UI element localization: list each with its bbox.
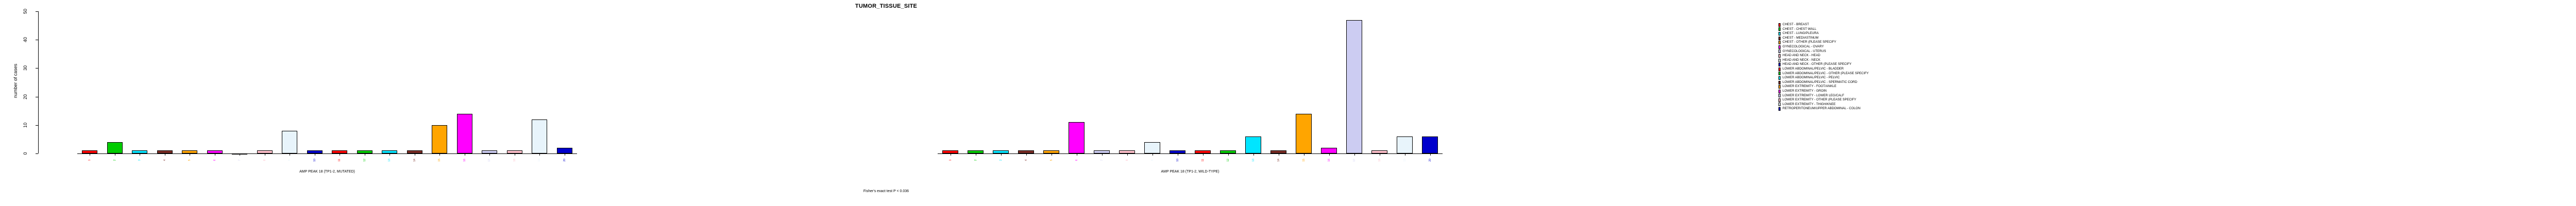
bar (942, 150, 958, 153)
bar (1346, 20, 1362, 153)
legend-item-label: RETROPERITONEUM/UPPER ABDOMINAL - COLON (1783, 107, 1860, 111)
legend-item[interactable]: LOWER EXTREMITY - LOWER LEG/CALF (1778, 94, 2576, 98)
legend-item[interactable]: LOWER EXTREMITY - THIGH/KNEE (1778, 102, 2576, 107)
bar (357, 150, 372, 153)
x-axis-tick-label: 20 (563, 153, 566, 167)
legend-item[interactable]: LOWER EXTREMITY - OTHER (PLEASE SPECIFY (1778, 98, 2576, 102)
y-axis-tick-label: 20 (23, 90, 28, 104)
bar (507, 150, 522, 153)
x-axis-tick-label: 2 (113, 153, 116, 167)
bar (482, 150, 497, 153)
bar (1220, 150, 1235, 153)
x-axis-tick-label: 11 (1201, 153, 1205, 167)
legend-color-swatch-icon (1778, 76, 1781, 80)
x-axis-tick-label: 2 (974, 153, 977, 167)
statistical-test-caption: Fisher's exact test P < 0.036 (0, 190, 1772, 193)
bar (82, 150, 97, 153)
y-axis-tick (36, 97, 38, 97)
legend-color-swatch-icon (1778, 32, 1781, 36)
bar (257, 150, 273, 153)
legend-item-label: LOWER EXTREMITY - THIGH/KNEE (1783, 102, 1836, 107)
legend-item[interactable]: HEAD AND NECK - NECK (1778, 58, 2576, 63)
bar (1371, 150, 1387, 153)
legend-color-swatch-icon (1778, 49, 1781, 53)
bar (1170, 150, 1185, 153)
legend-item[interactable]: CHEST - CHEST WALL (1778, 27, 2576, 32)
legend-color-swatch-icon (1778, 98, 1781, 102)
x-axis-tick-label: 6 (213, 153, 216, 167)
legend-item[interactable]: LOWER ABDOMINAL/PELVIC - PELVIC (1778, 76, 2576, 80)
y-axis-tick (36, 153, 38, 154)
bar (1144, 142, 1160, 153)
legend: CHEST - BREASTCHEST - CHEST WALLCHEST - … (1778, 23, 2576, 111)
bar (282, 131, 297, 153)
legend-item[interactable]: RETROPERITONEUM/UPPER ABDOMINAL - COLON (1778, 107, 2576, 111)
x-axis-tick-label: 18 (513, 153, 516, 167)
y-axis-tick (36, 68, 38, 68)
y-axis-tick (36, 11, 38, 12)
bar (307, 150, 323, 153)
x-axis-tick-label: 14 (1277, 153, 1280, 167)
legend-color-swatch-icon (1778, 107, 1781, 111)
bar (157, 150, 173, 153)
chart-canvas: TUMOR_TISSUE_SITE number of cases 010203… (0, 0, 2576, 206)
bar (1296, 114, 1311, 153)
legend-item[interactable]: LOWER EXTREMITY - GROIN (1778, 89, 2576, 94)
legend-item[interactable]: GYNECOLOGICAL - UTERUS (1778, 49, 2576, 54)
legend-item[interactable]: LOWER EXTREMITY - FOOT/ANKLE (1778, 84, 2576, 89)
bar (1069, 122, 1084, 153)
x-axis-tick-label: 6 (1075, 153, 1078, 167)
y-axis-tick (36, 125, 38, 126)
legend-item-label: LOWER EXTREMITY - OTHER (PLEASE SPECIFY (1783, 98, 1856, 102)
legend-item[interactable]: LOWER ABDOMINAL/PELVIC - SPERMATIC CORD (1778, 80, 2576, 85)
legend-item-label: CHEST - MEDIASTINUM (1783, 36, 1819, 41)
bar (1018, 150, 1033, 153)
x-axis-tick-label: 12 (1227, 153, 1230, 167)
legend-color-swatch-icon (1778, 102, 1781, 106)
y-axis-tick-label: 0 (23, 147, 28, 160)
bar (332, 150, 347, 153)
x-axis-tick-label: 10 (313, 153, 316, 167)
x-axis-tick-label: 5 (1050, 153, 1053, 167)
x-axis-tick-label: 16 (463, 153, 466, 167)
x-axis-line-left (77, 153, 577, 154)
bar (1094, 150, 1109, 153)
legend-item-label: LOWER EXTREMITY - GROIN (1783, 89, 1827, 94)
x-axis-tick-label: 7 (238, 153, 241, 167)
bar (457, 114, 472, 153)
x-axis-tick-label: 8 (1126, 153, 1129, 167)
bar (993, 150, 1008, 153)
x-axis-tick-label: 19 (538, 153, 541, 167)
legend-item[interactable]: HEAD AND NECK - HEAD (1778, 54, 2576, 58)
x-axis-tick-label: 9 (288, 153, 291, 167)
y-axis-line (38, 11, 39, 153)
legend-item-label: LOWER EXTREMITY - FOOT/ANKLE (1783, 84, 1836, 89)
legend-item[interactable]: CHEST - OTHER (PLEASE SPECIFY (1778, 40, 2576, 45)
x-axis-tick-label: 15 (438, 153, 441, 167)
x-axis-tick-label: 18 (1378, 153, 1381, 167)
x-axis-tick-label: 19 (1403, 153, 1406, 167)
legend-color-swatch-icon (1778, 27, 1781, 31)
x-axis-tick-label: 20 (1429, 153, 1432, 167)
x-axis-line-right (938, 153, 1443, 154)
legend-item-label: CHEST - BREAST (1783, 23, 1809, 27)
bar (182, 150, 197, 153)
x-axis-tick-label: 10 (1176, 153, 1179, 167)
x-axis-tick-label: 14 (413, 153, 416, 167)
x-axis-tick-label: 3 (999, 153, 1003, 167)
bar (1397, 136, 1412, 153)
bar (1422, 136, 1437, 153)
page-title: TUMOR_TISSUE_SITE (0, 3, 1772, 9)
legend-item-label: CHEST - LUNG/PLEURA (1783, 31, 1819, 36)
x-axis-tick-label: 8 (263, 153, 266, 167)
x-axis-tick-label: 16 (1328, 153, 1331, 167)
legend-item-label: CHEST - OTHER (PLEASE SPECIFY (1783, 40, 1836, 45)
legend-item-label: LOWER ABDOMINAL/PELVIC - BLADDER (1783, 67, 1844, 72)
legend-color-swatch-icon (1778, 72, 1781, 75)
legend-item[interactable]: CHEST - LUNG/PLEURA (1778, 31, 2576, 36)
y-axis-tick-label: 10 (23, 118, 28, 132)
legend-item-label: GYNECOLOGICAL - UTERUS (1783, 49, 1826, 54)
legend-color-swatch-icon (1778, 81, 1781, 84)
bar (968, 150, 983, 153)
x-axis-tick-label: 7 (1100, 153, 1104, 167)
legend-item-label: GYNECOLOGICAL - OVARY (1783, 45, 1824, 49)
legend-item[interactable]: LOWER ABDOMINAL/PELVIC - BLADDER (1778, 67, 2576, 72)
legend-color-swatch-icon (1778, 85, 1781, 89)
x-axis-tick-label: 15 (1302, 153, 1306, 167)
legend-color-swatch-icon (1778, 63, 1781, 66)
bar (557, 148, 572, 153)
y-axis-tick-label: 40 (23, 33, 28, 46)
legend-color-swatch-icon (1778, 59, 1781, 62)
bar (1119, 150, 1134, 153)
legend-color-swatch-icon (1778, 54, 1781, 58)
bar (532, 119, 547, 153)
x-axis-tick-label: 5 (188, 153, 191, 167)
x-axis-tick-label: 3 (138, 153, 141, 167)
legend-item-label: LOWER EXTREMITY - LOWER LEG/CALF (1783, 94, 1844, 98)
legend-item-label: LOWER ABDOMINAL/PELVIC - PELVIC (1783, 76, 1840, 80)
bar (107, 142, 123, 153)
x-axis-tick-label: 17 (1353, 153, 1356, 167)
panel-label-mutated: AMP PEAK 18 (TP1-2, MUTATED) (0, 170, 680, 174)
y-axis-tick-label: 30 (23, 61, 28, 75)
bar (1043, 150, 1059, 153)
bar (407, 150, 422, 153)
x-axis-tick-label: 11 (338, 153, 341, 167)
legend-color-swatch-icon (1778, 94, 1781, 97)
x-axis-tick-label: 4 (163, 153, 166, 167)
legend-item[interactable]: CHEST - MEDIASTINUM (1778, 36, 2576, 41)
legend-item-label: HEAD AND NECK - OTHER (PLEASE SPECIFY (1783, 62, 1852, 67)
legend-item[interactable]: LOWER ABDOMINAL/PELVIC - OTHER (PLEASE S… (1778, 72, 2576, 76)
x-axis-tick-label: 1 (88, 153, 91, 167)
legend-item-label: LOWER ABDOMINAL/PELVIC - OTHER (PLEASE S… (1783, 72, 1869, 76)
bar (1245, 136, 1261, 153)
bar (432, 125, 447, 153)
bar (1321, 148, 1336, 153)
bar (1270, 150, 1286, 153)
bar (207, 150, 223, 153)
x-axis-tick-label: 13 (1252, 153, 1255, 167)
legend-color-swatch-icon (1778, 41, 1781, 44)
y-axis-title: number of cases (13, 50, 18, 112)
legend-color-swatch-icon (1778, 37, 1781, 40)
legend-item[interactable]: GYNECOLOGICAL - OVARY (1778, 45, 2576, 49)
y-axis-tick-label: 50 (23, 5, 28, 18)
x-axis-tick-label: 13 (388, 153, 391, 167)
legend-color-swatch-icon (1778, 45, 1781, 49)
bar (232, 153, 247, 154)
legend-item-label: CHEST - CHEST WALL (1783, 27, 1817, 32)
y-axis-tick (36, 40, 38, 40)
legend-color-swatch-icon (1778, 67, 1781, 71)
legend-item-label: HEAD AND NECK - HEAD (1783, 54, 1820, 58)
legend-color-swatch-icon (1778, 90, 1781, 93)
x-axis-tick-label: 12 (363, 153, 366, 167)
panel-label-wildtype: AMP PEAK 18 (TP1-2, WILD-TYPE) (835, 170, 1546, 174)
legend-color-swatch-icon (1778, 23, 1781, 27)
bar (382, 150, 397, 153)
bar (132, 150, 147, 153)
x-axis-tick-label: 17 (488, 153, 491, 167)
legend-item-label: LOWER ABDOMINAL/PELVIC - SPERMATIC CORD (1783, 80, 1857, 85)
x-axis-tick-label: 9 (1151, 153, 1154, 167)
legend-item[interactable]: CHEST - BREAST (1778, 23, 2576, 27)
legend-item[interactable]: HEAD AND NECK - OTHER (PLEASE SPECIFY (1778, 62, 2576, 67)
x-axis-tick-label: 4 (1025, 153, 1028, 167)
legend-item-label: HEAD AND NECK - NECK (1783, 58, 1820, 63)
x-axis-tick-label: 1 (949, 153, 952, 167)
bar (1195, 150, 1210, 153)
